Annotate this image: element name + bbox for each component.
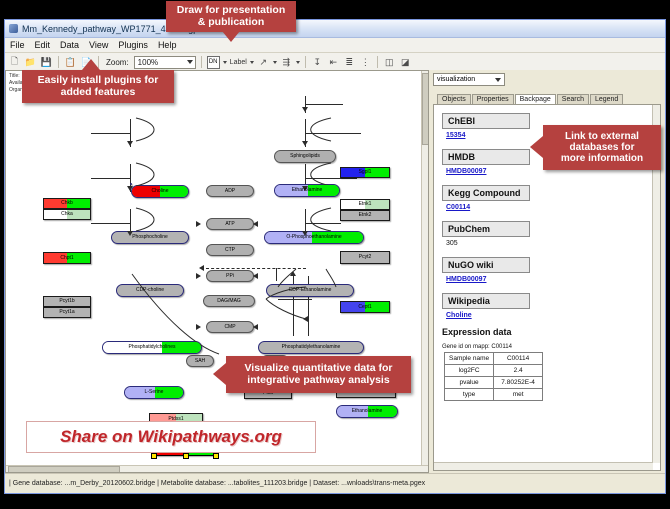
arrow-icon-left-cmp xyxy=(253,324,258,330)
metabolite-ctp[interactable]: CTP xyxy=(206,244,254,256)
table-row: log2FC 2.4 xyxy=(445,365,543,377)
gene-etnk2[interactable]: Etnk2 xyxy=(340,210,390,221)
align-left-icon[interactable]: ⇤ xyxy=(327,56,340,69)
share-text: Share on Wikipathways.org xyxy=(60,427,282,447)
node-label: CDP-Ethanolamine xyxy=(289,288,332,293)
db-header-pubchem: PubChem xyxy=(442,221,530,237)
node-label: SAH xyxy=(195,359,205,364)
menu-item-help[interactable]: Help xyxy=(153,40,182,50)
callout-links-pointer xyxy=(530,136,543,158)
status-bar-text: | Gene database: ...m_Derby_20120602.bri… xyxy=(5,480,425,487)
menu-item-view[interactable]: View xyxy=(84,40,113,50)
canvas-scrollbar-horizontal[interactable] xyxy=(6,465,428,472)
screenshot-root: Mm_Kennedy_pathway_WP1771_45176.gpml Fil… xyxy=(0,0,670,509)
gene-cept1[interactable]: Cept1 xyxy=(340,301,390,313)
zoom-value: 100% xyxy=(138,58,158,67)
node-label: ATP xyxy=(225,222,234,227)
callout-visualize: Visualize quantitative data for integrat… xyxy=(226,356,411,393)
distribute-v-icon[interactable]: ≣ xyxy=(343,56,356,69)
db-link-wikipedia[interactable]: Choline xyxy=(446,312,653,319)
arrow-icon-right-ppi xyxy=(196,273,201,279)
edge-etnk-anchor xyxy=(305,133,361,134)
visualization-select[interactable]: visualization xyxy=(433,73,505,86)
callout-line-1: Link to external xyxy=(565,131,639,142)
toolbar-divider-4 xyxy=(305,56,306,68)
metabolite-adp[interactable]: ADP xyxy=(206,185,254,197)
order-back-icon[interactable]: ◫ xyxy=(383,56,396,69)
db-link-kegg-compound[interactable]: C00114 xyxy=(446,204,653,211)
callout-line-1: Easily install plugins for xyxy=(38,75,159,87)
metabolite-node-choline[interactable] xyxy=(130,183,132,185)
expression-data-table: Sample name C00114 log2FC 2.4 pvalue 7.8… xyxy=(444,352,543,401)
status-bar: | Gene database: ...m_Derby_20120602.bri… xyxy=(5,473,665,493)
table-row: Sample name C00114 xyxy=(445,353,543,365)
node-label: Phosphocholine xyxy=(132,235,168,240)
callout-line-1: Draw for presentation xyxy=(177,5,286,17)
edge-chpt1-anchor xyxy=(91,178,130,179)
menu-bar: File Edit Data View Plugins Help xyxy=(5,38,665,53)
db-header-kegg-compound: Kegg Compound xyxy=(442,185,530,201)
metabolite-phosphatidylcholines[interactable]: Phosphatidylcholines xyxy=(102,341,202,354)
callout-line-2: & publication xyxy=(198,17,265,29)
gene-pcyt1b[interactable]: Pcyt1b xyxy=(43,296,91,307)
align-bottom-icon[interactable]: ↧ xyxy=(311,56,324,69)
callout-links: Link to external databases for more info… xyxy=(543,125,661,170)
node-label: Ethanolamine xyxy=(352,409,383,414)
menu-item-plugins[interactable]: Plugins xyxy=(113,40,153,50)
node-label: Phosphatidylcholines xyxy=(129,345,176,350)
node-label: O-Phosphoethanolamine xyxy=(286,235,341,240)
gene-chka[interactable]: Chka xyxy=(43,209,91,220)
backpage-scrollbar-horizontal[interactable] xyxy=(434,462,653,470)
node-label: Choline xyxy=(152,189,169,194)
callout-visualize-pointer xyxy=(213,363,226,385)
metabolite-choline[interactable]: Choline xyxy=(131,185,189,198)
metabolite-ethanolamine-bottom[interactable]: Ethanolamine xyxy=(336,405,398,418)
node-label: PPi xyxy=(226,274,234,279)
gene-etnk1[interactable]: Etnk1 xyxy=(340,199,390,210)
distribute-h-icon[interactable]: ⋮ xyxy=(359,56,372,69)
receptor-icon[interactable]: ⇶ xyxy=(280,56,293,69)
tab-search[interactable]: Search xyxy=(557,94,589,104)
callout-plugins: Easily install plugins for added feature… xyxy=(22,70,174,103)
metabolite-dag-mag[interactable]: DAG/MAG xyxy=(203,295,255,307)
db-header-hmdb: HMDB xyxy=(442,149,530,165)
metabolite-cdp-choline[interactable]: CDP-choline xyxy=(116,284,184,297)
toolbar-divider-3 xyxy=(201,56,202,68)
menu-item-file[interactable]: File xyxy=(5,40,30,50)
table-row: pvalue 7.80252E-4 xyxy=(445,377,543,389)
table-cell-key: Sample name xyxy=(445,353,494,365)
metabolite-ppi[interactable]: PPi xyxy=(206,270,254,282)
arrow-icon-left-pemt xyxy=(199,265,204,271)
chevron-down-icon-receptor[interactable] xyxy=(296,61,300,64)
db-value-pubchem: 305 xyxy=(446,240,653,247)
visualization-value: visualization xyxy=(437,76,475,83)
toolbar-divider-1 xyxy=(58,56,59,68)
datanode-icon[interactable]: DN xyxy=(207,56,220,69)
node-label: Sphingolipids xyxy=(290,154,320,159)
table-cell-key: pvalue xyxy=(445,377,494,389)
metabolite-sphingolipids[interactable]: Sphingolipids xyxy=(274,150,336,163)
selection-handle-br[interactable] xyxy=(213,453,219,459)
node-label: CDP-choline xyxy=(136,288,164,293)
node-label: DAG/MAG xyxy=(217,299,241,304)
pathway-canvas[interactable]: Title: Availa Organi xyxy=(5,70,429,473)
edge-sgpl1-anchor xyxy=(305,104,343,105)
node-label: CMP xyxy=(224,325,235,330)
node-label: Etnk2 xyxy=(359,213,372,218)
gene-pcyt2[interactable]: Pcyt2 xyxy=(340,251,390,264)
open-icon[interactable]: 📁 xyxy=(24,56,37,69)
arrow-icon-down-4 xyxy=(302,107,308,112)
tab-legend[interactable]: Legend xyxy=(590,94,623,104)
metabolite-phosphatidylethanolamine[interactable]: Phosphatidylethanolamine xyxy=(258,341,364,354)
node-label: Pcyt1a xyxy=(59,310,74,315)
callout-plugins-pointer xyxy=(82,59,100,70)
node-label: Pcyt1b xyxy=(59,299,74,304)
selection-handle-bl[interactable] xyxy=(151,453,157,459)
node-label: L-Serine xyxy=(145,390,164,395)
callout-line-1: Visualize quantitative data for xyxy=(244,363,392,375)
node-label: Chka xyxy=(61,212,73,217)
arrow-icon-right-cmp xyxy=(196,324,201,330)
chevron-down-icon xyxy=(495,78,501,82)
metabolite-l-serine-left[interactable]: L-Serine xyxy=(124,386,184,399)
edge-pc-pe-link xyxy=(206,268,306,269)
metabolite-cmp[interactable]: CMP xyxy=(206,321,254,333)
order-front-icon[interactable]: ◪ xyxy=(399,56,412,69)
table-row: type met xyxy=(445,389,543,401)
gene-pcyt1a[interactable]: Pcyt1a xyxy=(43,307,91,318)
tab-objects[interactable]: Objects xyxy=(437,94,471,104)
callout-share-wikipathways: Share on Wikipathways.org xyxy=(26,421,316,453)
zoom-combobox[interactable]: 100% xyxy=(134,56,196,69)
db-header-chebi: ChEBI xyxy=(442,113,530,129)
node-label: Chkb xyxy=(61,201,73,206)
chevron-down-icon-datanode[interactable] xyxy=(223,61,227,64)
canvas-scrollbar-vertical[interactable] xyxy=(421,71,428,472)
gene-sgpl1[interactable]: Sgpl1 xyxy=(340,167,390,178)
table-cell-value: met xyxy=(494,389,543,401)
edge-chk-anchor xyxy=(91,133,130,134)
node-label: Phosphatidylethanolamine xyxy=(282,345,341,350)
node-label: Cept1 xyxy=(358,305,371,310)
node-label: ADP xyxy=(225,189,235,194)
save-icon[interactable]: 💾 xyxy=(40,56,53,69)
arrow-icon-down-2 xyxy=(127,186,133,191)
db-link-nugo-wiki[interactable]: HMDB00097 xyxy=(446,276,653,283)
chevron-down-icon-label[interactable] xyxy=(250,61,254,64)
gene-chpt1[interactable]: Chpt1 xyxy=(43,252,91,264)
callout-draw: Draw for presentation & publication xyxy=(166,1,296,32)
tab-properties[interactable]: Properties xyxy=(472,94,514,104)
metabolite-o-phosphoethanolamine[interactable]: O-Phosphoethanolamine xyxy=(264,231,364,244)
arrow-icon-up-pe xyxy=(290,271,296,276)
node-label: CTP xyxy=(225,248,235,253)
label-tool-label[interactable]: Label xyxy=(230,59,247,66)
menu-item-edit[interactable]: Edit xyxy=(30,40,56,50)
arrow-icon-left-etn-bottom xyxy=(303,316,308,322)
db-header-nugo-wiki: NuGO wiki xyxy=(442,257,530,273)
gene-id-on-mapp: Gene id on mapp: C00114 xyxy=(442,344,653,350)
arrow-icon-left-atp xyxy=(253,221,258,227)
metabolite-atp[interactable]: ATP xyxy=(206,218,254,230)
metabolite-cdp-ethanolamine[interactable]: CDP-Ethanolamine xyxy=(266,284,354,297)
selection-handle-bc[interactable] xyxy=(183,453,189,459)
edge-pcyt2-anchor xyxy=(305,178,357,179)
callout-line-2: integrative pathway analysis xyxy=(247,375,389,387)
new-icon[interactable]: 🗋 xyxy=(8,56,21,69)
callout-line-2: added features xyxy=(61,87,136,99)
scroll-thumb[interactable] xyxy=(422,73,429,145)
arrow-icon-down-5 xyxy=(302,141,308,146)
metabolite-sah[interactable]: SAH xyxy=(186,355,214,367)
callout-line-3: more information xyxy=(561,153,643,164)
callout-line-2: databases for xyxy=(569,142,634,153)
menu-item-data[interactable]: Data xyxy=(55,40,84,50)
table-cell-key: log2FC xyxy=(445,365,494,377)
zoom-label: Zoom: xyxy=(106,58,129,67)
toolbar-divider-5 xyxy=(377,56,378,68)
edge-pisd-anchor xyxy=(278,299,312,300)
table-cell-value: 2.4 xyxy=(494,365,543,377)
node-label: Etnk1 xyxy=(359,202,372,207)
copy-icon[interactable]: 📋 xyxy=(64,56,77,69)
scroll-thumb[interactable] xyxy=(8,466,120,473)
node-label: Ethanolamine xyxy=(292,188,323,193)
expression-data-heading: Expression data xyxy=(442,327,653,337)
table-cell-value: C00114 xyxy=(494,353,543,365)
arrow-icon-down-1 xyxy=(127,141,133,146)
callout-draw-pointer xyxy=(222,31,240,42)
arrow-icon-left-ppi xyxy=(253,273,258,279)
gene-chkb[interactable]: Chkb xyxy=(43,198,91,209)
table-cell-key: type xyxy=(445,389,494,401)
db-header-wikipedia: Wikipedia xyxy=(442,293,530,309)
title-bar: Mm_Kennedy_pathway_WP1771_45176.gpml xyxy=(5,20,665,38)
edge-cept1-anchor xyxy=(305,223,341,224)
node-label: Pcyt2 xyxy=(359,255,372,260)
arrow-icon-right-atp xyxy=(196,221,201,227)
chevron-down-icon-line[interactable] xyxy=(273,61,277,64)
edge-pemt-stem xyxy=(276,268,277,281)
node-label: Chpt1 xyxy=(60,256,73,261)
line-icon[interactable]: ↗ xyxy=(257,56,270,69)
chevron-down-icon xyxy=(187,60,193,64)
app-icon xyxy=(9,24,18,33)
metabolite-phosphocholine[interactable]: Phosphocholine xyxy=(111,231,189,244)
edge-pcyt1-anchor xyxy=(91,223,130,224)
panel-tabs: Objects Properties Backpage Search Legen… xyxy=(437,91,661,105)
table-cell-value: 7.80252E-4 xyxy=(494,377,543,389)
node-label: Sgpl1 xyxy=(359,170,372,175)
